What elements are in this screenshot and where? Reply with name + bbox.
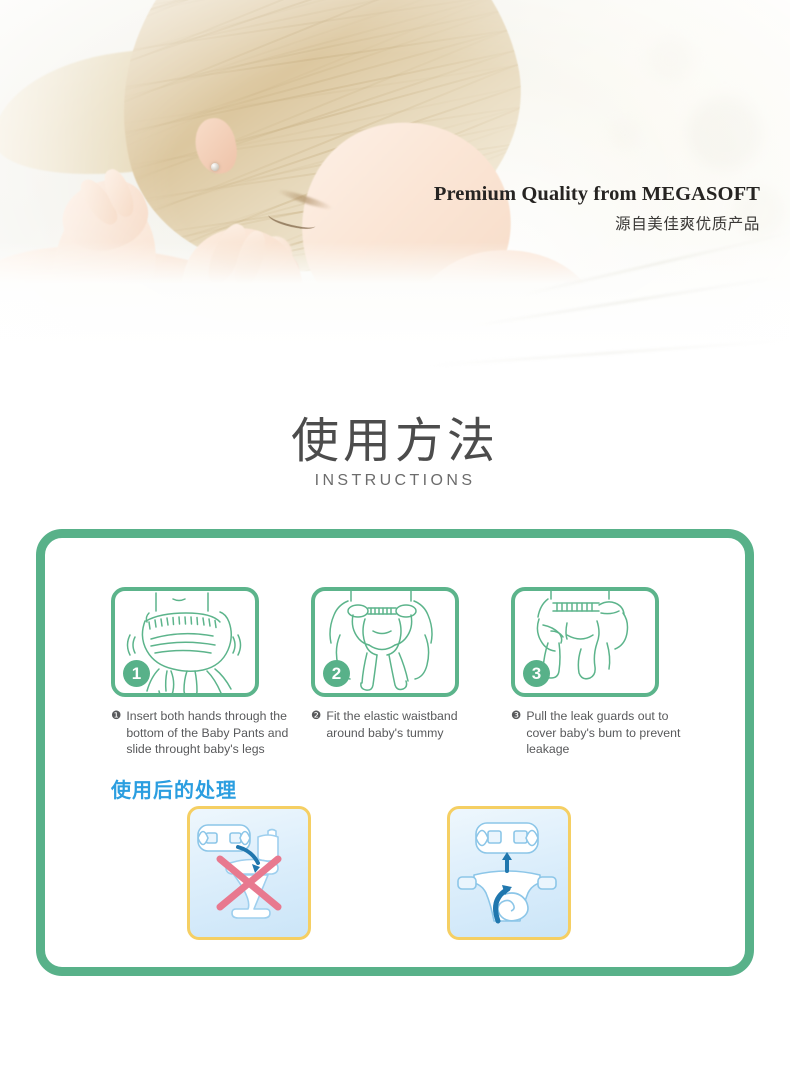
bokeh-light: [688, 96, 762, 170]
disposal-figure-no-flush: [187, 806, 311, 940]
section-title-cn: 使用方法: [0, 414, 790, 470]
brand-name-en: Premium Quality from MEGASOFT: [434, 183, 760, 206]
disposal-spacer: [311, 806, 447, 940]
step-caption: ❶ Insert both hands through the bottom o…: [111, 708, 307, 758]
disposal-figure-roll-up: [447, 806, 571, 940]
bokeh-light: [610, 120, 640, 150]
step-text: Fit the elastic waistband around baby's …: [326, 708, 487, 741]
earring: [211, 163, 219, 171]
step-caption: ❸ Pull the leak guards out to cover baby…: [511, 708, 701, 758]
instructions-frame: 1 ❶ Insert both hands through the bottom…: [36, 529, 754, 976]
section-title-en: INSTRUCTIONS: [0, 472, 790, 490]
bed-sheet: [0, 242, 790, 392]
step-caption: ❷ Fit the elastic waistband around baby'…: [311, 708, 487, 741]
instruction-step: 1 ❶ Insert both hands through the bottom…: [111, 587, 311, 758]
step-marker: ❸: [511, 708, 521, 758]
step-text: Insert both hands through the bottom of …: [126, 708, 307, 758]
step-figure-2: 2: [311, 587, 459, 697]
step-marker: ❷: [311, 708, 321, 741]
disposal-heading: 使用后的处理: [111, 774, 237, 803]
step-marker: ❶: [111, 708, 121, 758]
section-title: 使用方法 INSTRUCTIONS: [0, 414, 790, 490]
step-figure-1: 1: [111, 587, 259, 697]
instruction-step: 3 ❸ Pull the leak guards out to cover ba…: [511, 587, 711, 758]
brand-block: Premium Quality from MEGASOFT 源自美佳爽优质产品: [434, 183, 760, 234]
step-badge: 2: [323, 660, 350, 687]
step-figure-3: 3: [511, 587, 659, 697]
product-detail-page: Premium Quality from MEGASOFT 源自美佳爽优质产品 …: [0, 0, 790, 1070]
bokeh-light: [648, 36, 694, 82]
brand-name-cn: 源自美佳爽优质产品: [434, 212, 760, 234]
step-badge: 3: [523, 660, 550, 687]
steps-row: 1 ❶ Insert both hands through the bottom…: [111, 587, 711, 758]
instruction-step: 2 ❷ Fit the elastic waistband around bab…: [311, 587, 511, 758]
rolled-diaper-icon: [450, 809, 568, 937]
step-badge: 1: [123, 660, 150, 687]
toilet-with-cross-icon: [190, 809, 308, 937]
disposal-row: [187, 806, 707, 940]
step-text: Pull the leak guards out to cover baby's…: [526, 708, 701, 758]
hero-photo: Premium Quality from MEGASOFT 源自美佳爽优质产品: [0, 0, 790, 392]
